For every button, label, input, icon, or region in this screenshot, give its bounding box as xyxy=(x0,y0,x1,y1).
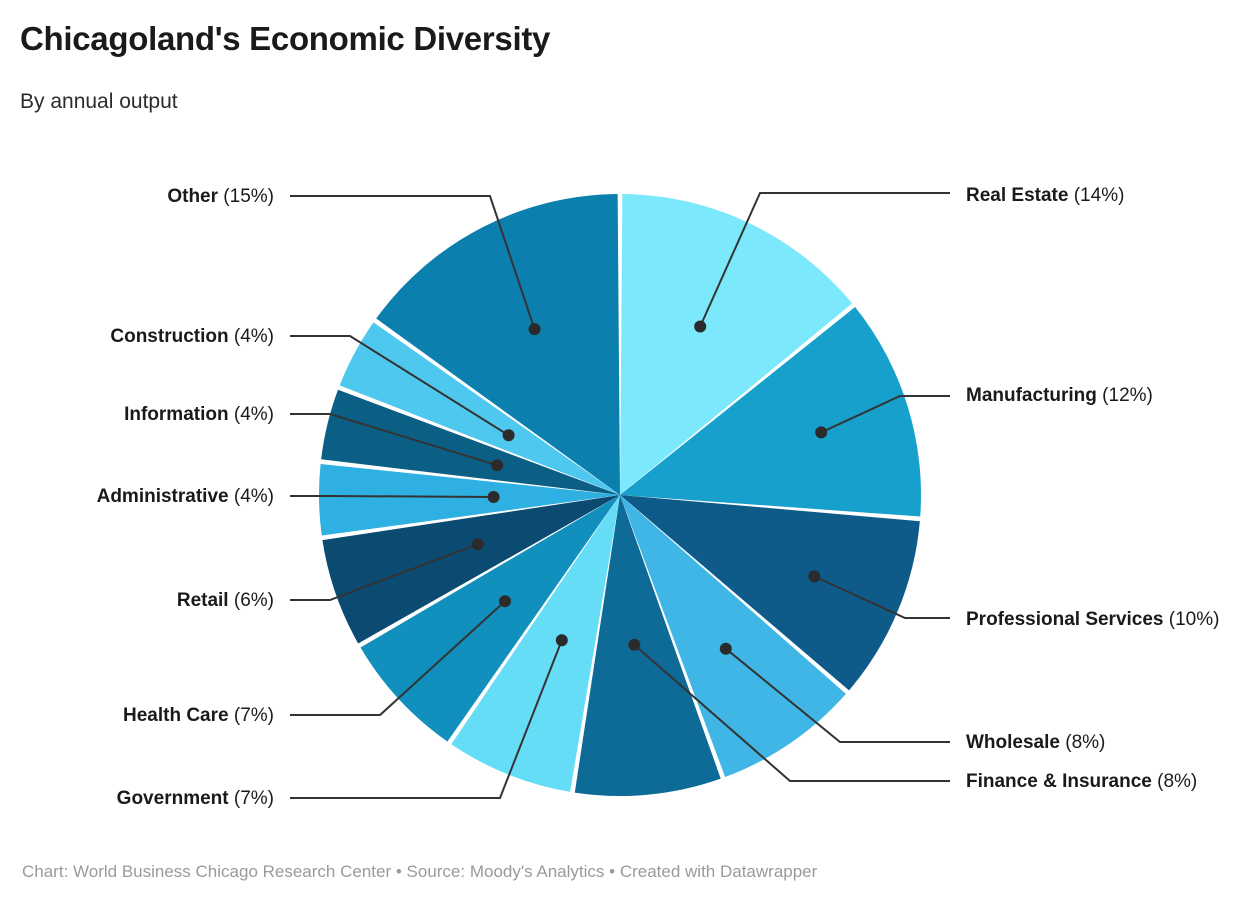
pie-slice-label-name: Information xyxy=(124,404,229,425)
pie-slice-label-name: Manufacturing xyxy=(966,385,1097,406)
pie-slice-label-percent: (14%) xyxy=(1068,185,1124,206)
leader-line xyxy=(290,496,494,497)
pie-slice-label-name: Finance & Insurance xyxy=(966,771,1152,792)
leader-anchor-dot xyxy=(491,459,503,471)
pie-slice-label[interactable]: Manufacturing (12%) xyxy=(966,384,1153,408)
pie-slice-label[interactable]: Wholesale (8%) xyxy=(966,731,1105,755)
pie-slice-label[interactable]: Retail (6%) xyxy=(177,589,274,613)
pie-slice-label-name: Health Care xyxy=(123,705,229,726)
pie-slice-label[interactable]: Finance & Insurance (8%) xyxy=(966,770,1197,794)
leader-anchor-dot xyxy=(720,643,732,655)
pie-slice-label-name: Real Estate xyxy=(966,185,1068,206)
pie-slice-label-percent: (4%) xyxy=(229,404,274,425)
pie-slice-label-name: Construction xyxy=(110,326,228,347)
leader-anchor-dot xyxy=(815,426,827,438)
pie-slice-label-name: Wholesale xyxy=(966,732,1060,753)
leader-anchor-dot xyxy=(694,321,706,333)
pie-slice-label-percent: (7%) xyxy=(229,788,274,809)
pie-slice-label-percent: (4%) xyxy=(229,326,274,347)
pie-slice-label-percent: (15%) xyxy=(218,186,274,207)
pie-slice-label[interactable]: Real Estate (14%) xyxy=(966,184,1124,208)
pie-slice-label[interactable]: Information (4%) xyxy=(124,403,274,427)
leader-anchor-dot xyxy=(499,595,511,607)
pie-slice-label[interactable]: Other (15%) xyxy=(167,185,274,209)
leader-anchor-dot xyxy=(503,429,515,441)
leader-anchor-dot xyxy=(556,634,568,646)
pie-slice-label-percent: (8%) xyxy=(1060,732,1105,753)
pie-slice-label[interactable]: Construction (4%) xyxy=(110,325,274,349)
pie-slice-layer xyxy=(319,194,921,796)
pie-slice-label-name: Administrative xyxy=(97,486,229,507)
pie-slice-label-percent: (12%) xyxy=(1097,385,1153,406)
pie-slice-label-name: Retail xyxy=(177,590,229,611)
pie-slice-label-percent: (10%) xyxy=(1164,609,1220,630)
pie-slice-label-percent: (7%) xyxy=(229,705,274,726)
pie-slice-label[interactable]: Administrative (4%) xyxy=(97,485,274,509)
leader-anchor-dot xyxy=(472,538,484,550)
leader-anchor-dot xyxy=(628,639,640,651)
pie-slice-label-percent: (6%) xyxy=(229,590,274,611)
leader-anchor-dot xyxy=(808,570,820,582)
pie-chart-figure: Chicagoland's Economic Diversity By annu… xyxy=(0,0,1240,910)
pie-slice-label-percent: (4%) xyxy=(229,486,274,507)
pie-slice-label[interactable]: Government (7%) xyxy=(117,787,274,811)
pie-slice-label-name: Government xyxy=(117,788,229,809)
pie-slice-label-name: Other xyxy=(167,186,218,207)
pie-slice-label[interactable]: Professional Services (10%) xyxy=(966,608,1219,632)
chart-credit-footer: Chart: World Business Chicago Research C… xyxy=(22,862,817,882)
pie-slice-label[interactable]: Health Care (7%) xyxy=(123,704,274,728)
pie-slice-label-name: Professional Services xyxy=(966,609,1164,630)
leader-anchor-dot xyxy=(488,491,500,503)
leader-anchor-dot xyxy=(529,323,541,335)
pie-slice-label-percent: (8%) xyxy=(1152,771,1197,792)
